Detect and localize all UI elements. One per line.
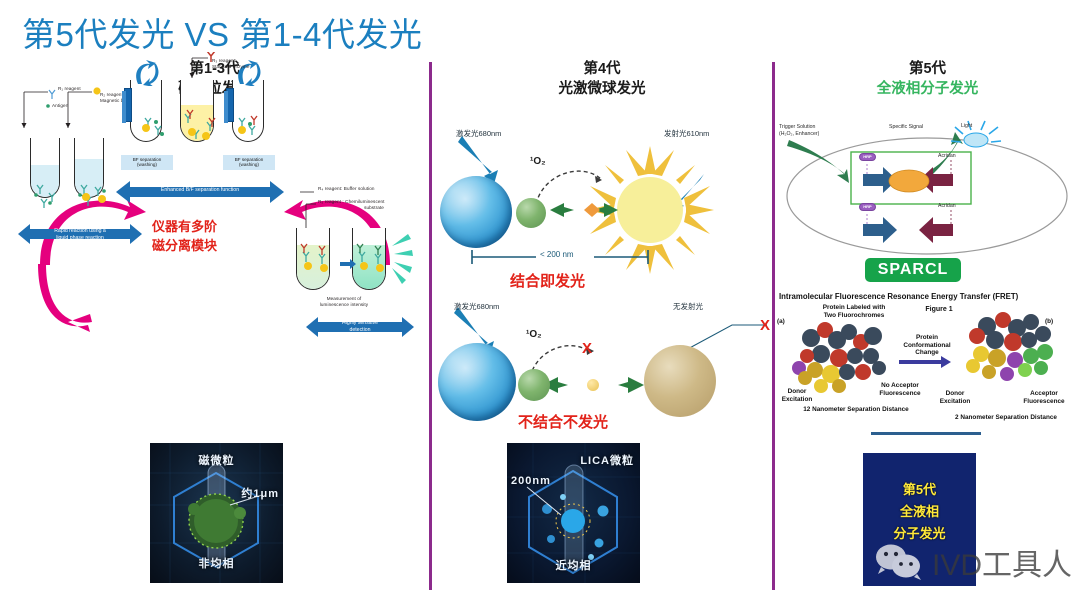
acceptor-bead-tan: [644, 345, 716, 417]
fret-acceptor-label: Acceptor Fluorescence: [1013, 390, 1075, 405]
label-nonbinding-no-emit: 不结合不发光: [518, 411, 608, 432]
label-trigger-solution-l2: (H₂O₂, Enhancer): [779, 131, 819, 138]
label-distance-200nm: < 200 nm: [540, 250, 574, 259]
bf-separation-box-2: BF separation (washing): [223, 155, 275, 170]
column-gen5-heading: 第5代 全液相分子发光: [775, 60, 1080, 99]
annotation-line1: 仪器有多阶: [152, 219, 217, 234]
wechat-icon: [873, 543, 927, 581]
column-gen4: 第4代 光激微球发光: [432, 60, 772, 99]
donor-bead-blue-2: [438, 343, 516, 421]
label-rapid-l1: Rapid reaction using a: [54, 228, 106, 234]
fret-donor-a-label: Donor Excitation: [775, 388, 819, 403]
label-excitation-680-2: 激发光680nm: [454, 301, 499, 312]
annotation-line2: 磁分离模块: [152, 238, 217, 253]
label-r4-reagent: R₄ reagent: Buffer solution: [318, 186, 375, 192]
luminescence-glyphs-icon: [292, 210, 422, 300]
fret-distance-b-label: 2 Nanometer Separation Distance: [931, 414, 1080, 422]
column-gen5-title: 第5代: [775, 60, 1080, 80]
bf1-line2: (washing): [137, 162, 157, 167]
fret-noacc-l1: No Acceptor: [881, 382, 919, 389]
watermark-text: IVD工具人: [932, 540, 1072, 584]
lica-particle-photo: LICA微粒 200nm 近均相: [507, 443, 640, 583]
label-singlet-oxygen-top: ¹O₂: [530, 156, 546, 167]
watermark: IVD工具人: [873, 540, 1072, 584]
label-rapid-reaction: Rapid reaction using a liquid phase reac…: [30, 228, 130, 241]
fret-change-l2: Conformational: [903, 342, 950, 349]
label-r3-reagent: R₃ reagent:: [212, 58, 236, 64]
label-r5-reagent: R₅ reagent : Chemiluminescent: [318, 199, 385, 205]
column-gen4-title: 第4代: [432, 60, 772, 80]
fret-change-label: Protein Conformational Change: [899, 334, 955, 357]
sensitive-line2: detection: [349, 327, 370, 333]
antibody-glyphs-middle-icon: [126, 84, 286, 164]
gen5-summary-line1: 第5代: [863, 479, 976, 498]
annotation-multi-stage-magnet: 仪器有多阶 磁分离模块: [152, 218, 217, 256]
fret-distance-a-label: 12 Nanometer Separation Distance: [779, 406, 933, 414]
magnetic-bead-caption-bottom: 非均相: [150, 555, 283, 571]
blocked-x-mark-1: X: [582, 340, 592, 357]
donor-bead-blue: [440, 176, 512, 248]
column-gen4-subtitle: 光激微球发光: [432, 80, 772, 100]
lica-caption-top: LICA微粒: [580, 452, 634, 468]
magnetic-bead-photo: 磁微粒 约1μm 非均相: [150, 443, 283, 583]
magnetic-bead-caption-size: 约1μm: [241, 485, 279, 501]
sensitive-line1: Highly sensitive: [342, 320, 378, 326]
blocked-x-mark-2: X: [760, 317, 770, 334]
fret-donor-b-l1: Donor: [946, 390, 965, 397]
label-emission-610: 发射光610nm: [664, 128, 709, 139]
bf1-line1: BF separation: [133, 157, 162, 162]
label-measurement: Measurement of luminescence intensity: [296, 296, 392, 307]
free-analyte-dot: [587, 379, 599, 391]
fret-noacc-l2: Fluorescence: [879, 390, 920, 397]
fret-diagram: Intramolecular Fluorescence Resonance En…: [775, 290, 1080, 440]
gen4-nonbinding-diagram: 激发光680nm 无发射光 ¹O₂ X X 不结合不发光: [432, 295, 772, 445]
hrp-badge-top: HRP: [859, 153, 876, 161]
page-title: 第5代发光 VS 第1-4代发光: [22, 8, 422, 56]
lica-caption-size: 200nm: [511, 475, 551, 487]
label-rapid-l2: liquid phase reaction: [56, 235, 104, 241]
bf2-line1: BF separation: [235, 157, 264, 162]
label-excitation-680: 激发光680nm: [456, 128, 501, 139]
fret-change-l1: Protein: [916, 334, 938, 341]
label-enhanced-separation: Enhanced B/F separation function: [130, 187, 270, 194]
analyte-bead-green: [516, 198, 546, 228]
fret-donor-a-l1: Donor: [788, 388, 807, 395]
fret-acc-l2: Fluorescence: [1023, 398, 1064, 405]
hrp-badge-bottom: HRP: [859, 203, 876, 211]
label-trigger-solution-l1: Trigger Solution: [779, 124, 815, 131]
label-acridan-bottom: Acridan: [938, 203, 956, 210]
fret-donor-b-label: Donor Excitation: [933, 390, 977, 405]
gen4-binding-diagram: 激发光680nm 发射光610nm ¹O₂ < 200 nm 结合即发光: [432, 118, 772, 293]
label-acridan-top: Acridan: [938, 153, 956, 160]
slide-root: 第5代发光 VS 第1-4代发光 第1-3代 磁微粒发光: [0, 0, 1080, 608]
label-r2-reagent: R₂ reagent:: [100, 92, 124, 98]
fret-donor-b-l2: Excitation: [940, 398, 971, 405]
fret-acc-l1: Acceptor: [1030, 390, 1058, 397]
measure-line2: luminescence intensity: [320, 302, 368, 307]
label-binding-emits: 结合即发光: [510, 270, 585, 291]
label-r3-enzyme: Standard enzyme: [212, 64, 250, 70]
column-gen5: 第5代 全液相分子发光: [775, 60, 1080, 99]
gen5-summary-line2: 全液相: [863, 501, 976, 520]
bf2-line2: (washing): [239, 162, 259, 167]
label-no-emission: 无发射光: [673, 301, 703, 312]
measure-line1: Measurement of: [327, 296, 362, 301]
fret-donor-a-l2: Excitation: [782, 396, 813, 403]
fret-no-acceptor-label: No Acceptor Fluorescence: [869, 382, 931, 397]
gen1-3-diagram: R₁ reagent Antigen R₂ reagent: Magnetic …: [0, 60, 429, 380]
column-gen5-subtitle: 全液相分子发光: [775, 80, 1080, 100]
magnetic-bead-caption-top: 磁微粒: [150, 452, 283, 468]
label-light: Light: [961, 123, 972, 130]
analyte-bead-green-2: [518, 369, 550, 401]
sparcl-button[interactable]: SPARCL: [865, 258, 961, 282]
bf-separation-box-1: BF separation (washing): [121, 155, 173, 170]
sparcl-diagram: Trigger Solution (H₂O₂, Enhancer) Specif…: [775, 118, 1080, 293]
label-singlet-oxygen-bottom: ¹O₂: [526, 329, 542, 340]
lica-caption-bottom: 近均相: [507, 557, 640, 573]
label-r1-reagent: R₁ reagent: [58, 86, 81, 92]
label-antigen: Antigen: [52, 103, 68, 109]
label-sensitive-detection: Highly sensitive detection: [316, 320, 404, 333]
fret-change-l3: Change: [915, 349, 938, 356]
label-specific-signal: Specific Signal: [889, 124, 923, 131]
column-gen4-heading: 第4代 光激微球发光: [432, 60, 772, 99]
